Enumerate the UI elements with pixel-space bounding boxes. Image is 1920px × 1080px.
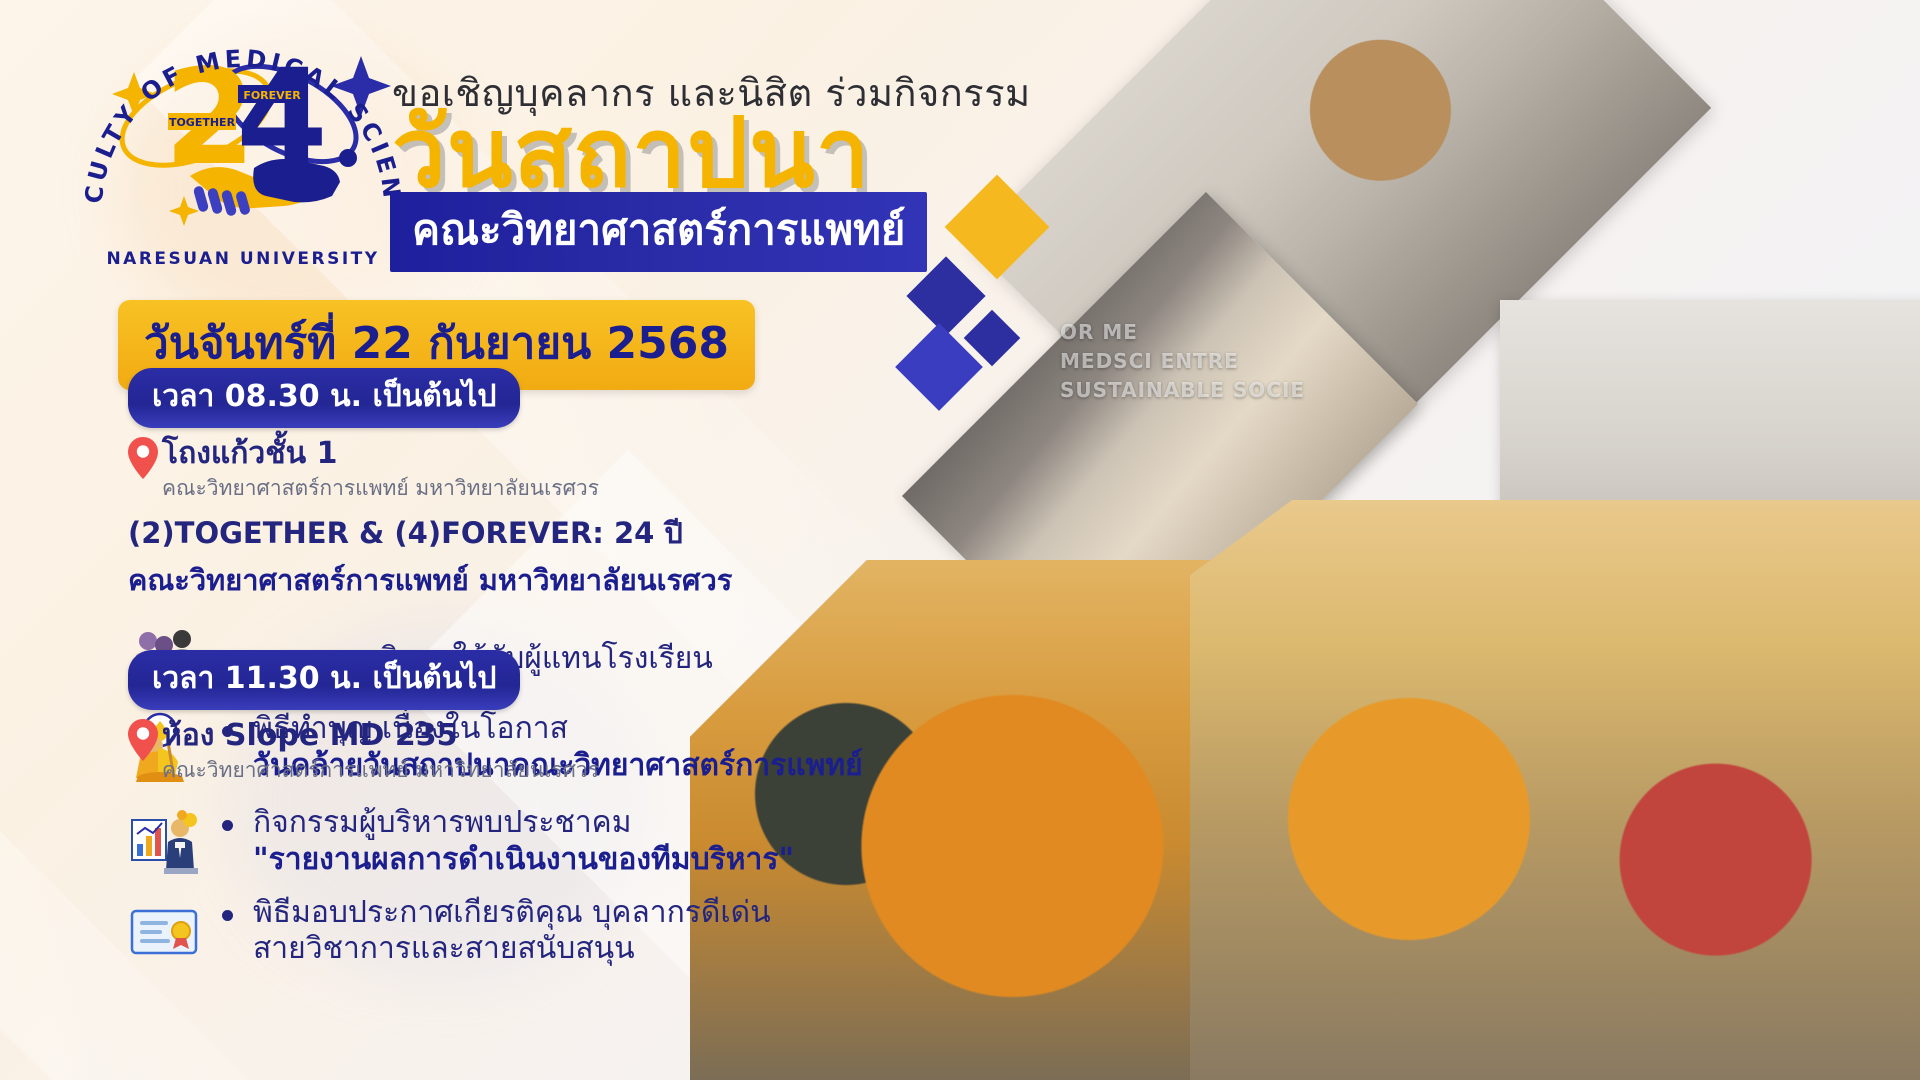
logo-badge-together: TOGETHER xyxy=(169,116,236,129)
venue-midday: ห้อง Slope MD 235 คณะวิทยาศาสตร์การแพทย์… xyxy=(128,719,848,787)
theme-line-en: (2)TOGETHER & (4)FOREVER: 24 ปี xyxy=(128,510,848,556)
page-subtitle: คณะวิทยาศาสตร์การแพทย์ xyxy=(390,192,927,272)
venue-morning-texts: โถงแก้วชั้น 1 คณะวิทยาศาสตร์การแพทย์ มหา… xyxy=(162,437,599,505)
agenda-item-line2: "รายงานผลการดำเนินงานของทีมบริหาร" xyxy=(253,842,794,879)
agenda-item: พิธีมอบประกาศเกียรติคุณ บุคลากรดีเด่น สา… xyxy=(128,895,848,968)
location-pin-icon xyxy=(128,719,158,761)
venue-morning: โถงแก้วชั้น 1 คณะวิทยาศาสตร์การแพทย์ มหา… xyxy=(128,437,848,505)
time-badge-midday: เวลา 11.30 น. เป็นต้นไป xyxy=(128,650,520,710)
bullet-point xyxy=(222,910,233,921)
photo-merit-ceremony-image xyxy=(1190,500,1920,1080)
location-pin-icon xyxy=(128,437,158,479)
certificate-icon xyxy=(128,895,200,967)
venue-sub-midday: คณะวิทยาศาสตร์การแพทย์ มหาวิทยาลัยนเรศวร xyxy=(162,754,599,787)
agenda-item-line1: กิจกรรมผู้บริหารพบประชาคม xyxy=(253,805,794,842)
schedule-block-midday: เวลา 11.30 น. เป็นต้นไป ห้อง Slope MD 23… xyxy=(128,650,848,968)
time-badge-morning: เวลา 08.30 น. เป็นต้นไป xyxy=(128,368,520,428)
event-poster: OR ME MEDSCI ENTRE SUSTAINABLE SOCIE 2 4… xyxy=(0,0,1920,1080)
faculty-logo: 2 4 TOGETHER FOREVER FACULTY OF MEDICAL … xyxy=(78,18,408,280)
agenda-item-line1: พิธีมอบประกาศเกียรติคุณ บุคลากรดีเด่น xyxy=(253,895,771,932)
agenda-item-body: กิจกรรมผู้บริหารพบประชาคม "รายงานผลการดำ… xyxy=(222,805,794,878)
venue-name-midday: ห้อง Slope MD 235 xyxy=(162,720,599,752)
agenda-item-body: พิธีมอบประกาศเกียรติคุณ บุคลากรดีเด่น สา… xyxy=(222,895,771,968)
venue-name-morning: โถงแก้วชั้น 1 xyxy=(162,438,599,470)
venue-sub-morning: คณะวิทยาศาสตร์การแพทย์ มหาวิทยาลัยนเรศวร xyxy=(162,472,599,505)
logo-badge-forever: FOREVER xyxy=(243,89,301,102)
page-title: วันสถาปนา xyxy=(392,103,871,204)
photo-merit-ceremony xyxy=(1190,500,1920,1080)
venue-midday-texts: ห้อง Slope MD 235 คณะวิทยาศาสตร์การแพทย์… xyxy=(162,719,599,787)
agenda-item-line2: สายวิชาการและสายสนับสนุน xyxy=(253,931,771,968)
logo-university-text: NARESUAN UNIVERSITY xyxy=(106,249,379,269)
theme-line-th: คณะวิทยาศาสตร์การแพทย์ มหาวิทยาลัยนเรศวร xyxy=(128,557,848,603)
agenda-item: กิจกรรมผู้บริหารพบประชาคม "รายงานผลการดำ… xyxy=(128,805,848,878)
bullet-point xyxy=(222,820,233,831)
presentation-report-icon xyxy=(128,806,200,878)
